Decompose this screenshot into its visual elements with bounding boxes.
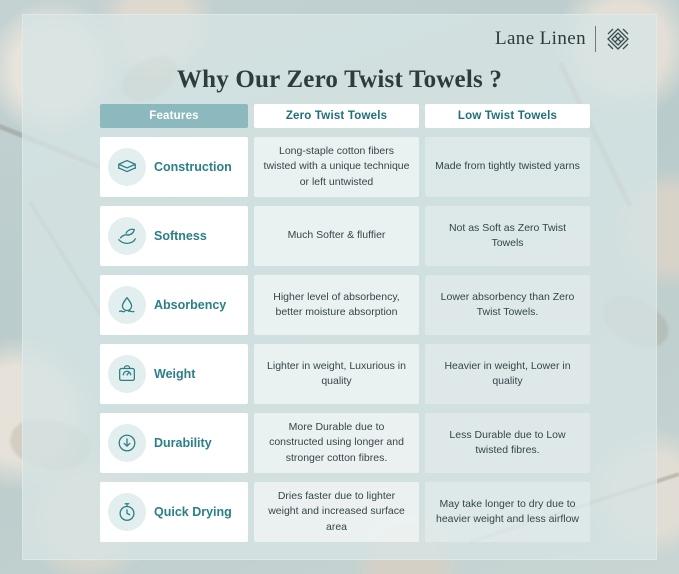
feature-cell-absorbency: Absorbency	[100, 275, 248, 335]
table-row: Construction Long-staple cotton fibers t…	[100, 137, 590, 197]
feature-label: Softness	[154, 229, 207, 243]
feature-cell-durability: Durability	[100, 413, 248, 473]
hand-feather-icon	[108, 217, 146, 255]
feature-cell-construction: Construction	[100, 137, 248, 197]
cell-low-twist: Made from tightly twisted yarns	[425, 137, 590, 197]
cell-zero-twist: Dries faster due to lighter weight and i…	[254, 482, 419, 542]
feature-label: Weight	[154, 367, 195, 381]
cell-zero-twist: Higher level of absorbency, better moist…	[254, 275, 419, 335]
cell-low-twist: Lower absorbency than Zero Twist Towels.	[425, 275, 590, 335]
feature-label: Durability	[154, 436, 212, 450]
table-row: Durability More Durable due to construct…	[100, 413, 590, 473]
cell-zero-twist: Lighter in weight, Luxurious in quality	[254, 344, 419, 404]
shield-arrow-down-icon	[108, 424, 146, 462]
cell-low-twist: Heavier in weight, Lower in quality	[425, 344, 590, 404]
feature-cell-weight: Weight	[100, 344, 248, 404]
comparison-table: Features Zero Twist Towels Low Twist Tow…	[100, 104, 590, 551]
weighing-scale-icon	[108, 355, 146, 393]
table-row: Absorbency Higher level of absorbency, b…	[100, 275, 590, 335]
knot-emblem-icon	[605, 26, 631, 52]
folded-towel-icon	[108, 148, 146, 186]
cell-low-twist: May take longer to dry due to heavier we…	[425, 482, 590, 542]
table-row: Quick Drying Dries faster due to lighter…	[100, 482, 590, 542]
poster-background: Lane Linen Why Our Zero Twist Towels ? F…	[0, 0, 679, 574]
table-header-row: Features Zero Twist Towels Low Twist Tow…	[100, 104, 590, 128]
brand-divider	[595, 26, 596, 52]
column-header-low-twist: Low Twist Towels	[425, 104, 590, 128]
feature-cell-quick-drying: Quick Drying	[100, 482, 248, 542]
table-row: Softness Much Softer & fluffier Not as S…	[100, 206, 590, 266]
brand-header: Lane Linen	[495, 26, 631, 52]
cell-zero-twist: More Durable due to constructed using lo…	[254, 413, 419, 473]
column-header-features: Features	[100, 104, 248, 128]
feature-label: Absorbency	[154, 298, 226, 312]
content-card: Lane Linen Why Our Zero Twist Towels ? F…	[22, 14, 657, 560]
cell-low-twist: Not as Soft as Zero Twist Towels	[425, 206, 590, 266]
table-row: Weight Lighter in weight, Luxurious in q…	[100, 344, 590, 404]
water-drop-absorb-icon	[108, 286, 146, 324]
stopwatch-drop-icon	[108, 493, 146, 531]
feature-label: Quick Drying	[154, 505, 232, 519]
page-title: Why Our Zero Twist Towels ?	[22, 66, 657, 94]
cell-low-twist: Less Durable due to Low twisted fibres.	[425, 413, 590, 473]
feature-label: Construction	[154, 160, 232, 174]
cell-zero-twist: Much Softer & fluffier	[254, 206, 419, 266]
brand-name: Lane Linen	[495, 28, 586, 50]
feature-cell-softness: Softness	[100, 206, 248, 266]
column-header-zero-twist: Zero Twist Towels	[254, 104, 419, 128]
cell-zero-twist: Long-staple cotton fibers twisted with a…	[254, 137, 419, 197]
